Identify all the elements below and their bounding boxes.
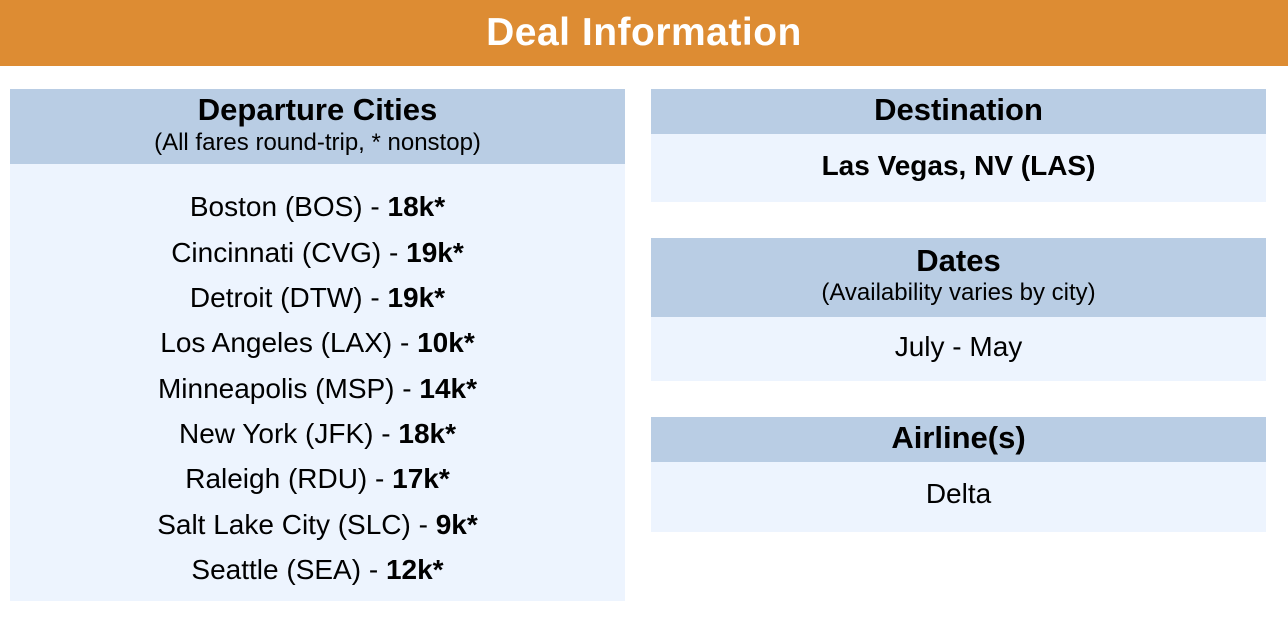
city-name: Seattle (SEA) [191,554,361,585]
city-separator: - [363,191,388,222]
city-separator: - [363,282,388,313]
city-separator: - [373,418,398,449]
city-separator: - [381,237,406,268]
airlines-card: Airline(s) Delta [651,417,1266,532]
destination-card: Destination Las Vegas, NV (LAS) [651,89,1266,202]
city-miles: 18k [388,191,435,222]
dates-body: July - May [651,317,1266,381]
departure-cities-card: Departure Cities (All fares round-trip, … [10,89,625,601]
dates-heading: Dates [659,244,1258,279]
dates-subheading: (Availability varies by city) [659,279,1258,307]
city-name: Detroit (DTW) [190,282,363,313]
city-separator: - [392,327,417,358]
city-miles: 19k [387,282,434,313]
content-columns: Departure Cities (All fares round-trip, … [0,66,1288,601]
list-item: Los Angeles (LAX) - 10k* [18,320,617,365]
city-name: Cincinnati (CVG) [171,237,381,268]
city-separator: - [361,554,386,585]
departure-cities-list: Boston (BOS) - 18k* Cincinnati (CVG) - 1… [10,164,625,601]
list-item: Minneapolis (MSP) - 14k* [18,366,617,411]
departure-cities-subheading: (All fares round-trip, * nonstop) [18,129,617,157]
nonstop-star: * [434,282,445,313]
list-item: Raleigh (RDU) - 17k* [18,456,617,501]
airlines-heading: Airline(s) [659,421,1258,456]
page-title-bar: Deal Information [0,0,1288,66]
destination-body: Las Vegas, NV (LAS) [651,134,1266,202]
city-separator: - [367,463,392,494]
city-name: Raleigh (RDU) [185,463,367,494]
city-name: Minneapolis (MSP) [158,373,395,404]
city-name: Boston (BOS) [190,191,363,222]
nonstop-star: * [453,237,464,268]
list-item: Cincinnati (CVG) - 19k* [18,230,617,275]
destination-value: Las Vegas, NV (LAS) [822,150,1096,181]
nonstop-star: * [439,463,450,494]
dates-card: Dates (Availability varies by city) July… [651,238,1266,381]
city-name: New York (JFK) [179,418,374,449]
dates-value: July - May [895,331,1023,362]
airlines-header: Airline(s) [651,417,1266,462]
list-item: Seattle (SEA) - 12k* [18,547,617,592]
list-item: Salt Lake City (SLC) - 9k* [18,502,617,547]
destination-header: Destination [651,89,1266,134]
airlines-body: Delta [651,462,1266,532]
city-name: Salt Lake City (SLC) [157,509,411,540]
nonstop-star: * [464,327,475,358]
nonstop-star: * [433,554,444,585]
city-miles: 18k [398,418,445,449]
left-column: Departure Cities (All fares round-trip, … [10,66,625,601]
nonstop-star: * [434,191,445,222]
dates-header: Dates (Availability varies by city) [651,238,1266,317]
city-miles: 12k [386,554,433,585]
nonstop-star: * [466,373,477,404]
deal-information-page: Deal Information Departure Cities (All f… [0,0,1288,642]
city-miles: 17k [392,463,439,494]
city-miles: 14k [419,373,466,404]
city-name: Los Angeles (LAX) [160,327,392,358]
city-miles: 10k [417,327,464,358]
city-miles: 19k [406,237,453,268]
departure-cities-heading: Departure Cities [18,93,617,128]
list-item: Boston (BOS) - 18k* [18,184,617,229]
destination-heading: Destination [659,93,1258,128]
right-column: Destination Las Vegas, NV (LAS) Dates (A… [651,66,1266,532]
airlines-value: Delta [926,478,991,509]
page-title: Deal Information [486,11,802,55]
list-item: New York (JFK) - 18k* [18,411,617,456]
city-separator: - [411,509,436,540]
list-item: Detroit (DTW) - 19k* [18,275,617,320]
nonstop-star: * [467,509,478,540]
city-separator: - [395,373,420,404]
nonstop-star: * [445,418,456,449]
departure-cities-header: Departure Cities (All fares round-trip, … [10,89,625,164]
city-miles: 9k [436,509,467,540]
